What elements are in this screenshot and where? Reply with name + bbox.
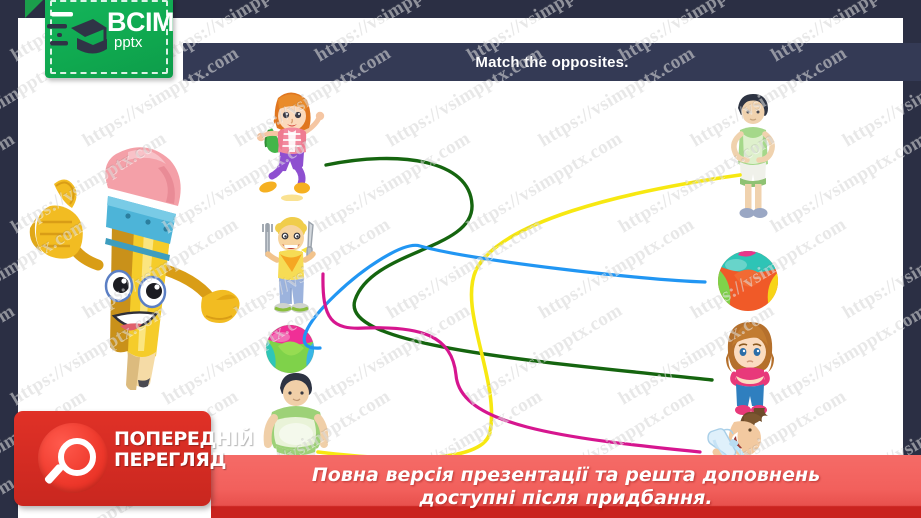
logo-fold <box>25 0 47 18</box>
preview-badge-text: ПОПЕРЕДНІЙ ПЕРЕГЛЯД <box>114 429 254 472</box>
vsimpptx-logo[interactable]: BCIM pptx <box>25 0 173 80</box>
purchase-banner: Повна версія презентації та решта доповн… <box>211 455 921 518</box>
connector-line-magenta[interactable] <box>323 274 700 452</box>
logo-motion-lines <box>45 0 93 59</box>
connector-line-green[interactable] <box>326 158 712 380</box>
logo-brand-text: BCIM pptx <box>107 10 173 50</box>
preview-badge-line1: ПОПЕРЕДНІЙ <box>114 429 254 450</box>
logo-card: BCIM pptx <box>45 0 173 78</box>
magnifier-handle <box>44 463 65 485</box>
slide-root: happy jumping girl with backpack <box>0 0 921 518</box>
preview-badge[interactable]: ПОПЕРЕДНІЙ ПЕРЕГЛЯД <box>14 411 211 506</box>
connector-line-blue[interactable] <box>304 245 705 348</box>
magnifier-lens <box>58 438 96 476</box>
logo-brand-line1: BCIM <box>107 7 173 37</box>
preview-badge-line2: ПЕРЕГЛЯД <box>114 450 254 471</box>
logo-brand-line2: pptx <box>114 36 173 50</box>
pencil-mascot: cartoon pencil character giving a thumbs… <box>16 140 256 390</box>
purchase-banner-line2: доступні після придбання. <box>419 487 712 510</box>
connector-line-yellow[interactable] <box>318 175 740 458</box>
magnifier-icon <box>38 423 108 493</box>
purchase-banner-line1: Повна версія презентації та решта доповн… <box>312 464 820 487</box>
